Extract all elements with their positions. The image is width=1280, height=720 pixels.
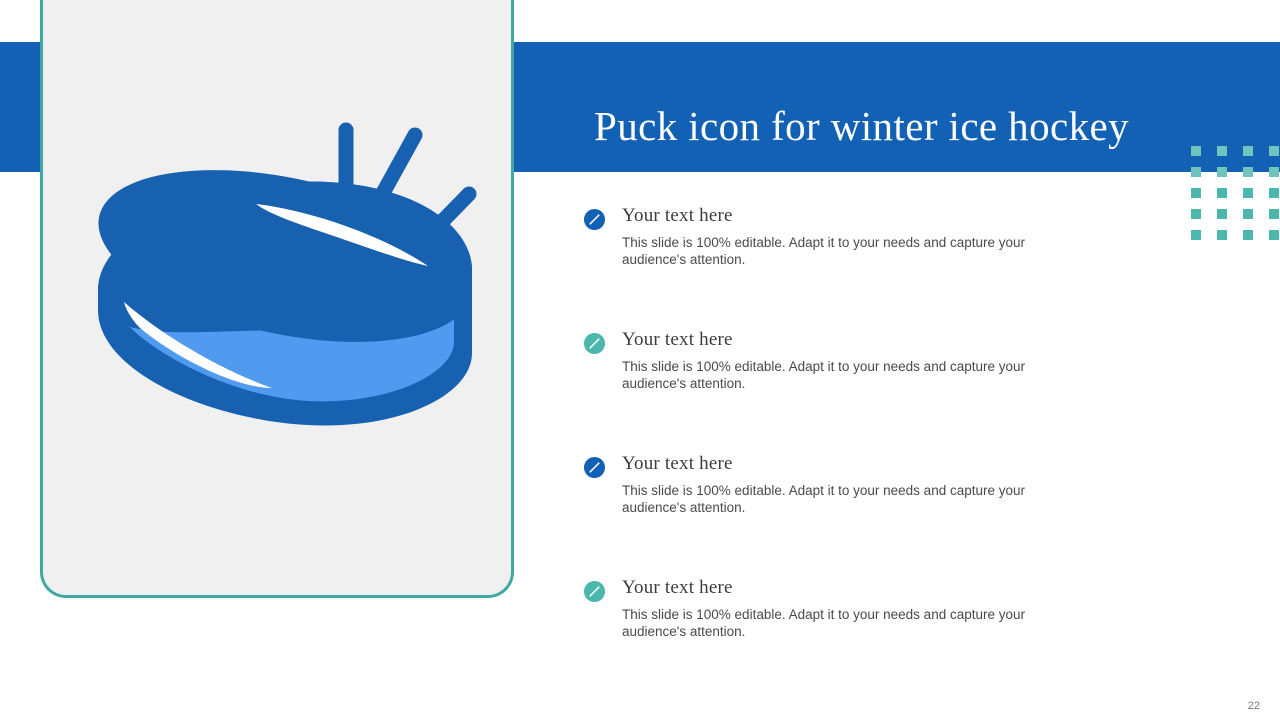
illustration-panel	[40, 0, 514, 598]
grid-dot	[1269, 188, 1279, 198]
bullet-list: Your text here This slide is 100% editab…	[583, 205, 1183, 701]
grid-dot	[1217, 230, 1227, 240]
grid-dot	[1217, 167, 1227, 177]
slashed-circle-icon	[583, 208, 606, 231]
list-item-body: This slide is 100% editable. Adapt it to…	[622, 482, 1074, 516]
dot-grid-decoration	[1191, 146, 1279, 240]
list-item-body: This slide is 100% editable. Adapt it to…	[622, 234, 1074, 268]
grid-dot	[1191, 146, 1201, 156]
list-item[interactable]: Your text here This slide is 100% editab…	[583, 205, 1183, 329]
list-item[interactable]: Your text here This slide is 100% editab…	[583, 453, 1183, 577]
slashed-circle-icon	[583, 580, 606, 603]
slashed-circle-icon	[583, 332, 606, 355]
grid-dot	[1243, 209, 1253, 219]
grid-dot	[1243, 188, 1253, 198]
grid-dot	[1269, 146, 1279, 156]
grid-dot	[1269, 230, 1279, 240]
slashed-circle-icon	[583, 456, 606, 479]
grid-dot	[1269, 167, 1279, 177]
page-title: Puck icon for winter ice hockey	[594, 102, 1254, 150]
grid-dot	[1191, 167, 1201, 177]
list-item[interactable]: Your text here This slide is 100% editab…	[583, 577, 1183, 701]
list-item-body: This slide is 100% editable. Adapt it to…	[622, 606, 1074, 640]
grid-dot	[1191, 209, 1201, 219]
list-item-heading: Your text here	[622, 453, 733, 475]
grid-dot	[1191, 188, 1201, 198]
grid-dot	[1217, 146, 1227, 156]
grid-dot	[1191, 230, 1201, 240]
grid-dot	[1243, 167, 1253, 177]
grid-dot	[1243, 230, 1253, 240]
grid-dot	[1217, 209, 1227, 219]
grid-dot	[1243, 146, 1253, 156]
grid-dot	[1217, 188, 1227, 198]
grid-dot	[1269, 209, 1279, 219]
list-item-body: This slide is 100% editable. Adapt it to…	[622, 358, 1074, 392]
list-item-heading: Your text here	[622, 205, 733, 227]
page-number: 22	[1248, 700, 1260, 712]
list-item[interactable]: Your text here This slide is 100% editab…	[583, 329, 1183, 453]
list-item-heading: Your text here	[622, 329, 733, 351]
list-item-heading: Your text here	[622, 577, 733, 599]
